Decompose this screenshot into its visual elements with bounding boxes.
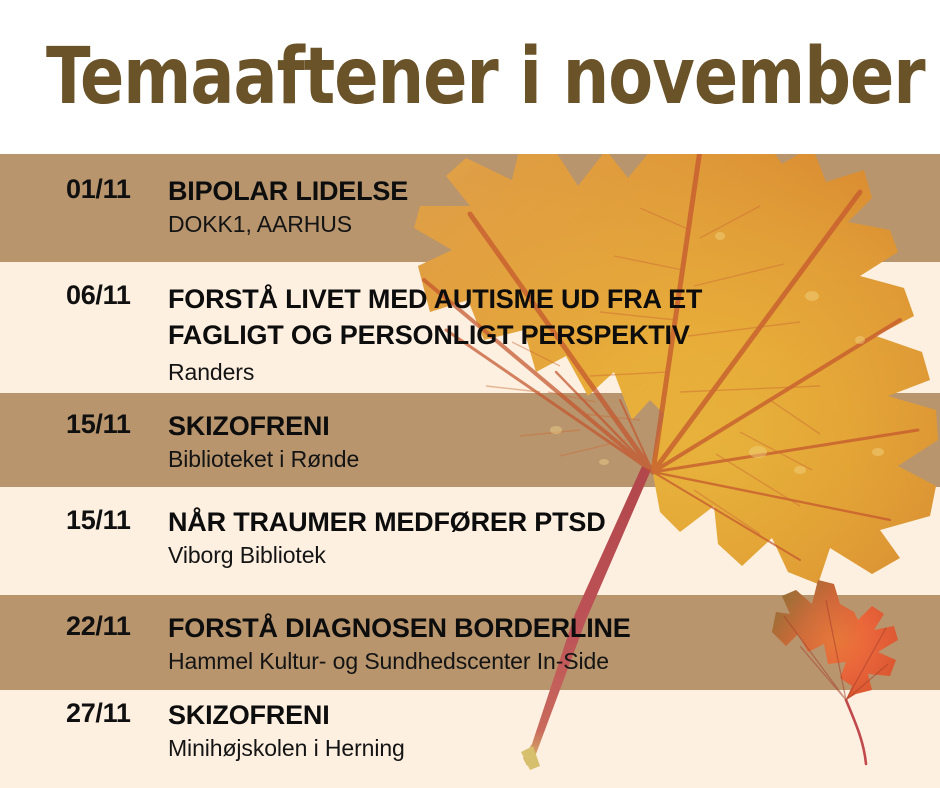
- event-date: 15/11: [0, 507, 168, 534]
- event-date: 27/11: [0, 700, 168, 727]
- event-body: SKIZOFRENI Biblioteket i Rønde: [168, 411, 940, 474]
- event-date: 01/11: [0, 176, 168, 203]
- event-title: NÅR TRAUMER MEDFØRER PTSD: [168, 507, 940, 537]
- event-date: 06/11: [0, 282, 168, 309]
- event-row[interactable]: 22/11 FORSTÅ DIAGNOSEN BORDERLINE Hammel…: [0, 613, 940, 676]
- event-title: SKIZOFRENI: [168, 700, 940, 730]
- event-row[interactable]: 01/11 BIPOLAR LIDELSE DOKK1, AARHUS: [0, 176, 940, 239]
- event-row[interactable]: 15/11 SKIZOFRENI Biblioteket i Rønde: [0, 411, 940, 474]
- event-body: FORSTÅ LIVET MED AUTISME UD FRA ET FAGLI…: [168, 282, 940, 387]
- event-venue: Hammel Kultur- og Sundhedscenter In-Side: [168, 648, 940, 676]
- event-date: 15/11: [0, 411, 168, 438]
- event-title: SKIZOFRENI: [168, 411, 940, 441]
- event-venue: Minihøjskolen i Herning: [168, 735, 940, 763]
- event-title: FORSTÅ LIVET MED AUTISME UD FRA ET FAGLI…: [168, 282, 940, 353]
- event-list: 01/11 BIPOLAR LIDELSE DOKK1, AARHUS 06/1…: [0, 0, 940, 788]
- event-row[interactable]: 27/11 SKIZOFRENI Minihøjskolen i Herning: [0, 700, 940, 763]
- event-title: FORSTÅ DIAGNOSEN BORDERLINE: [168, 613, 940, 643]
- event-row[interactable]: 15/11 NÅR TRAUMER MEDFØRER PTSD Viborg B…: [0, 507, 940, 570]
- poster-canvas: Temaaftener i november 01/11 BIPOLAR LID…: [0, 0, 940, 788]
- event-venue: Viborg Bibliotek: [168, 542, 940, 570]
- event-venue: Biblioteket i Rønde: [168, 446, 940, 474]
- event-body: FORSTÅ DIAGNOSEN BORDERLINE Hammel Kultu…: [168, 613, 940, 676]
- event-row[interactable]: 06/11 FORSTÅ LIVET MED AUTISME UD FRA ET…: [0, 282, 940, 387]
- event-body: SKIZOFRENI Minihøjskolen i Herning: [168, 700, 940, 763]
- event-body: BIPOLAR LIDELSE DOKK1, AARHUS: [168, 176, 940, 239]
- event-date: 22/11: [0, 613, 168, 640]
- event-venue: Randers: [168, 359, 940, 387]
- event-body: NÅR TRAUMER MEDFØRER PTSD Viborg Bibliot…: [168, 507, 940, 570]
- event-venue: DOKK1, AARHUS: [168, 211, 940, 239]
- event-title: BIPOLAR LIDELSE: [168, 176, 940, 206]
